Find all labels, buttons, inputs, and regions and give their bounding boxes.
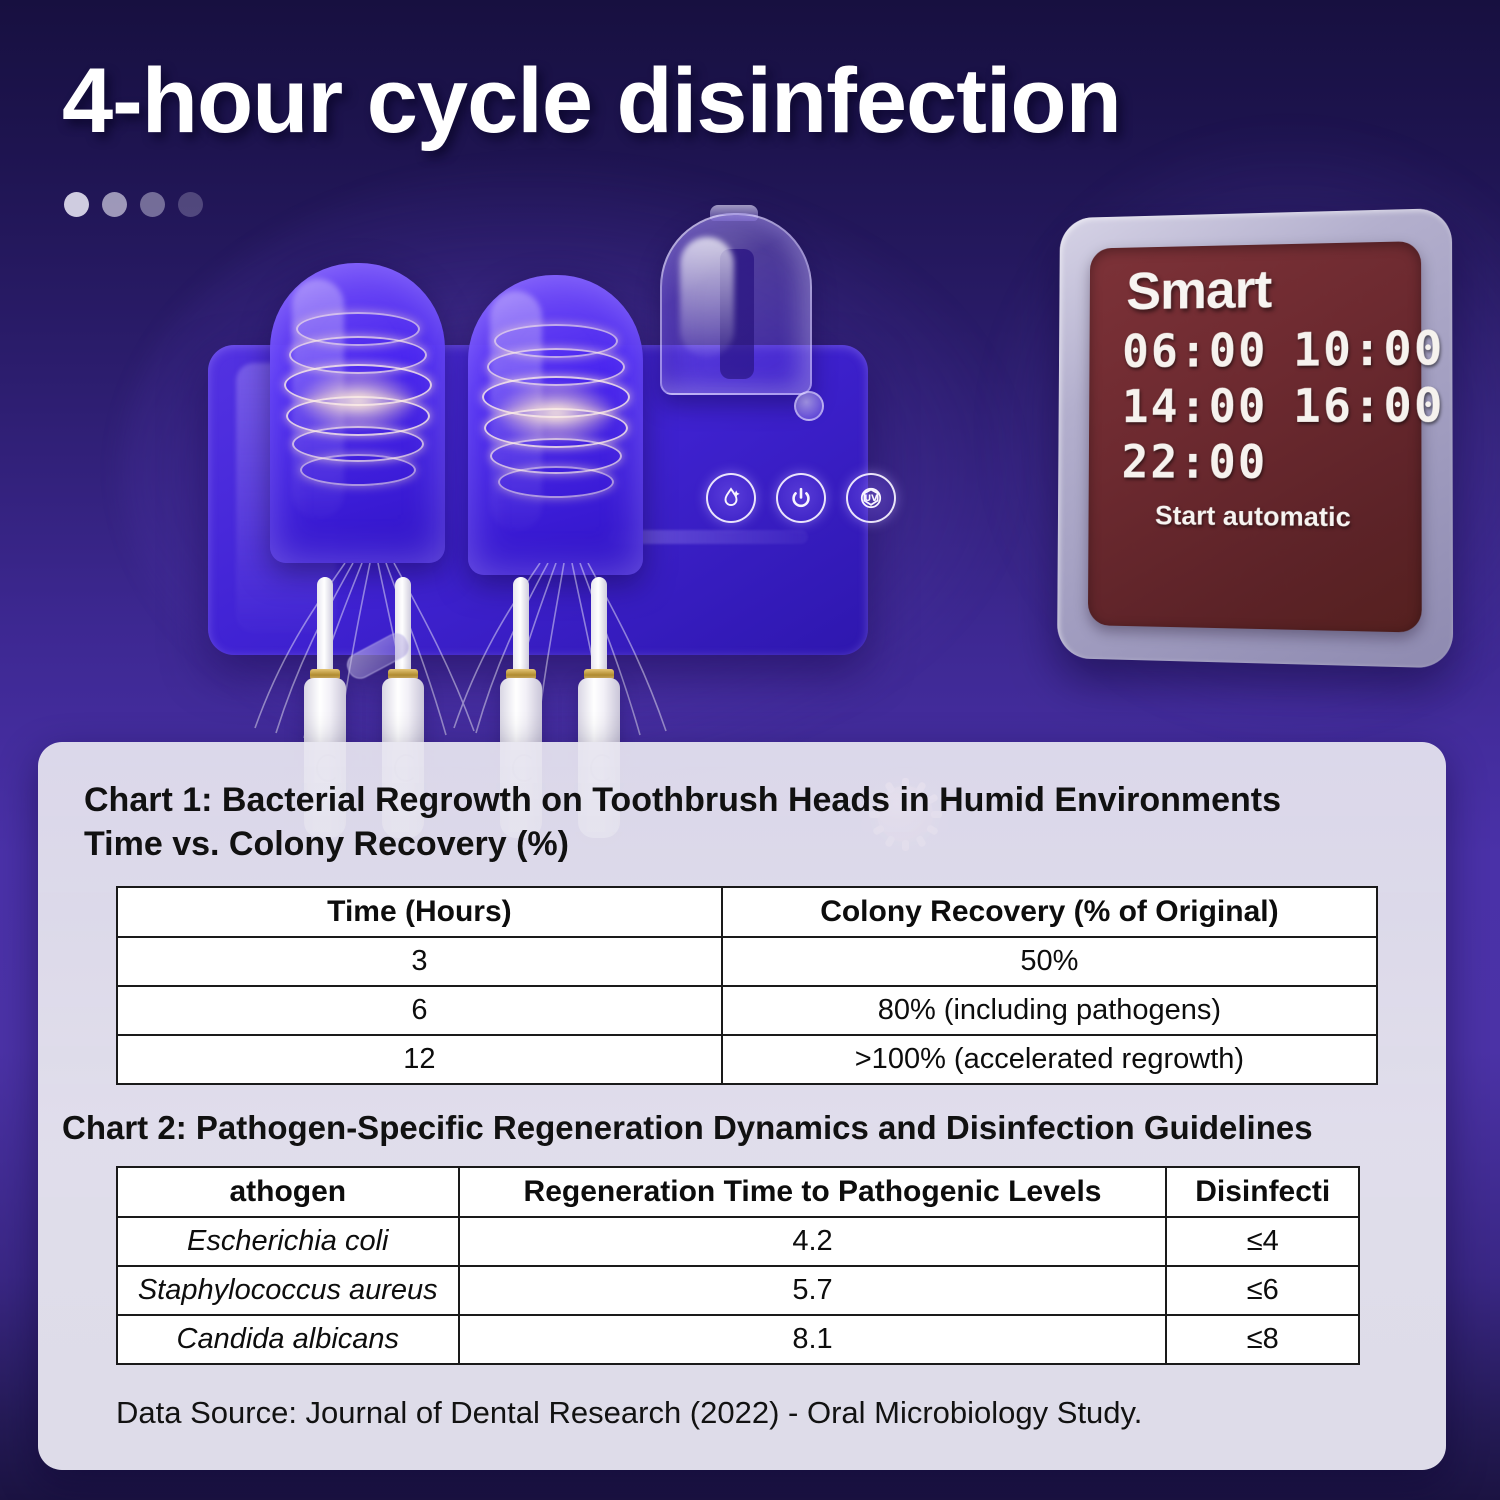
chart1-r3-recovery: >100% (accelerated regrowth) xyxy=(722,1035,1377,1084)
chart2-r2-disinfect: ≤6 xyxy=(1166,1266,1359,1315)
page-title: 4-hour cycle disinfection xyxy=(62,55,1121,147)
table-row: 12 >100% (accelerated regrowth) xyxy=(117,1035,1377,1084)
chart2-r3-regen: 8.1 xyxy=(459,1315,1167,1364)
product-illustration: UV xyxy=(190,205,910,765)
power-button[interactable] xyxy=(776,473,826,523)
table-header-row: athogen Regeneration Time to Pathogenic … xyxy=(117,1167,1359,1217)
schedule-time-1400: 14:00 xyxy=(1122,379,1267,433)
chart1-table: Time (Hours) Colony Recovery (% of Origi… xyxy=(116,886,1378,1085)
uv-chamber-left xyxy=(270,263,445,563)
dispenser-nozzle-icon xyxy=(794,391,824,421)
brush-neck xyxy=(317,577,333,673)
schedule-row-1: 06:00 10:00 xyxy=(1122,322,1395,379)
smart-display-footer: Start automatic xyxy=(1088,500,1421,534)
schedule-time-2200: 22:00 xyxy=(1121,435,1267,489)
data-source-note: Data Source: Journal of Dental Research … xyxy=(116,1395,1400,1431)
schedule-time-1000: 10:00 xyxy=(1293,321,1444,377)
decorative-dots xyxy=(64,192,203,217)
chart2-r3-pathogen: Candida albicans xyxy=(117,1315,459,1364)
schedule-row-3: 22:00 xyxy=(1121,435,1394,490)
smart-display-title: Smart xyxy=(1090,257,1421,322)
chart1-r2-recovery: 80% (including pathogens) xyxy=(722,986,1377,1035)
table-header-row: Time (Hours) Colony Recovery (% of Origi… xyxy=(117,887,1377,937)
chart1-r1-recovery: 50% xyxy=(722,937,1377,986)
smart-display-screen: Smart 06:00 10:00 14:00 16:00 22:00 Star… xyxy=(1088,241,1422,633)
chart1-r2-time: 6 xyxy=(117,986,722,1035)
table-row: Staphylococcus aureus 5.7 ≤6 xyxy=(117,1266,1359,1315)
chart2-r1-regen: 4.2 xyxy=(459,1217,1167,1266)
chart1-r1-time: 3 xyxy=(117,937,722,986)
brush-neck xyxy=(591,577,607,673)
chart2-r2-pathogen: Staphylococcus aureus xyxy=(117,1266,459,1315)
brush-neck xyxy=(513,577,529,673)
schedule-time-grid: 06:00 10:00 14:00 16:00 22:00 xyxy=(1089,317,1422,490)
info-card: Chart 1: Bacterial Regrowth on Toothbrus… xyxy=(38,742,1446,1470)
dot-2 xyxy=(102,192,127,217)
schedule-time-1600: 16:00 xyxy=(1293,378,1444,433)
chart1-col-recovery: Colony Recovery (% of Original) xyxy=(722,887,1377,937)
chart2-col-disinfection: Disinfecti xyxy=(1166,1167,1359,1217)
promo-banner: 4-hour cycle disinfection xyxy=(0,0,1500,1500)
soap-dispense-button[interactable] xyxy=(706,473,756,523)
control-button-row: UV xyxy=(706,473,896,523)
schedule-time-0600: 06:00 xyxy=(1122,324,1267,379)
svg-text:UV: UV xyxy=(864,494,878,504)
uv-chamber-right xyxy=(468,275,643,575)
dot-1 xyxy=(64,192,89,217)
table-row: Candida albicans 8.1 ≤8 xyxy=(117,1315,1359,1364)
chart1-heading: Chart 1: Bacterial Regrowth on Toothbrus… xyxy=(84,778,1400,866)
chart2-heading: Chart 2: Pathogen-Specific Regeneration … xyxy=(62,1107,1400,1150)
chart1-r3-time: 12 xyxy=(117,1035,722,1084)
table-row: 3 50% xyxy=(117,937,1377,986)
smart-display-panel: Smart 06:00 10:00 14:00 16:00 22:00 Star… xyxy=(1057,208,1453,669)
table-row: 6 80% (including pathogens) xyxy=(117,986,1377,1035)
chart2-r3-disinfect: ≤8 xyxy=(1166,1315,1359,1364)
chart2-col-pathogen: athogen xyxy=(117,1167,459,1217)
schedule-row-2: 14:00 16:00 xyxy=(1122,379,1395,434)
table-row: Escherichia coli 4.2 ≤4 xyxy=(117,1217,1359,1266)
dispenser-highlight xyxy=(680,237,734,357)
uv-shield-icon: UV xyxy=(858,485,884,511)
uv-mode-button[interactable]: UV xyxy=(846,473,896,523)
water-drop-sparkle-icon xyxy=(718,485,744,511)
chart2-r1-pathogen: Escherichia coli xyxy=(117,1217,459,1266)
chamber-left-light-swirl xyxy=(283,306,433,496)
chart1-heading-line1: Chart 1: Bacterial Regrowth on Toothbrus… xyxy=(84,778,1400,822)
soap-dispenser-dome xyxy=(660,213,812,395)
chart2-r2-regen: 5.7 xyxy=(459,1266,1167,1315)
chart2-col-regeneration: Regeneration Time to Pathogenic Levels xyxy=(459,1167,1167,1217)
power-icon xyxy=(788,485,814,511)
chart2-table: athogen Regeneration Time to Pathogenic … xyxy=(116,1166,1360,1365)
dot-3 xyxy=(140,192,165,217)
chart2-r1-disinfect: ≤4 xyxy=(1166,1217,1359,1266)
chamber-right-light-swirl xyxy=(481,318,631,508)
chart1-heading-line2: Time vs. Colony Recovery (%) xyxy=(84,822,1400,866)
chart1-col-time: Time (Hours) xyxy=(117,887,722,937)
